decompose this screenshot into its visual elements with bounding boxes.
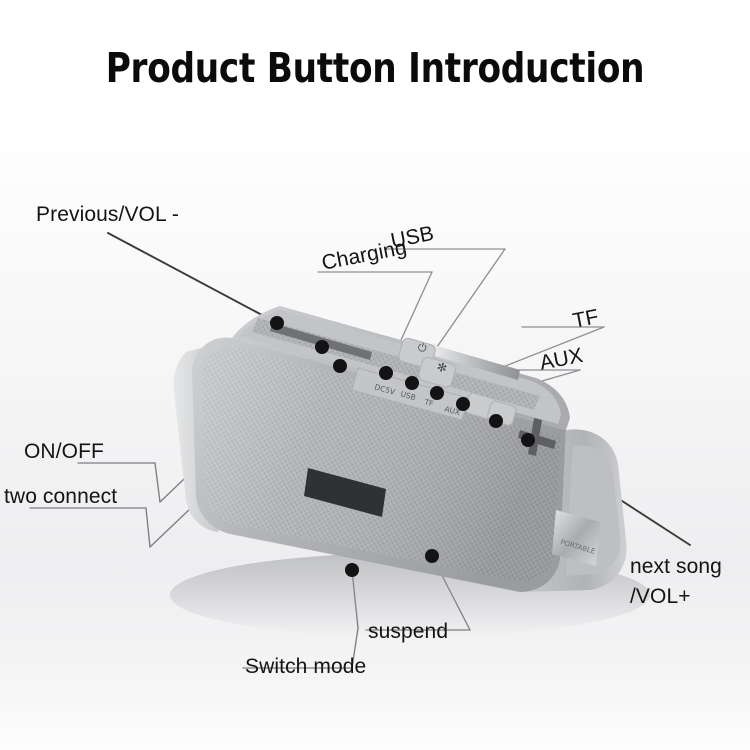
- callout-suspend: suspend: [368, 620, 448, 644]
- callout-aux: AUX: [538, 344, 585, 375]
- callout-previous-vol-down: Previous/VOL -: [36, 203, 179, 227]
- product-infographic: Product Button Introduction: [0, 0, 750, 750]
- callout-two-connect: two connect: [4, 485, 117, 509]
- callout-on-off: ON/OFF: [24, 440, 104, 464]
- callout-next-song-vol-up: next song /VOL+: [630, 552, 722, 613]
- callout-next-song-line1: next song: [630, 552, 722, 582]
- callout-next-song-line2: /VOL+: [630, 582, 722, 612]
- callout-switch-mode: Switch mode: [245, 655, 366, 679]
- callout-usb: USB: [389, 222, 436, 253]
- callout-labels: Previous/VOL - Charging USB TF AUX ON/OF…: [0, 0, 750, 750]
- callout-tf: TF: [571, 305, 601, 333]
